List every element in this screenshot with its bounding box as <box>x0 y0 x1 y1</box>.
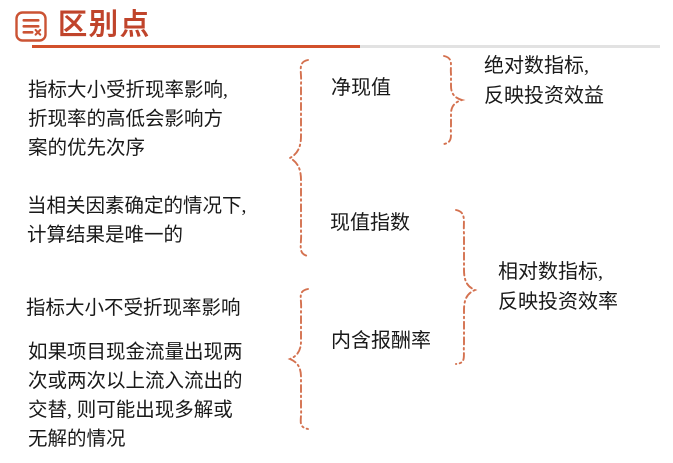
node-label-pvi: 现值指数 <box>330 209 410 238</box>
npv-description-primary: 指标大小受折现率影响, 折现率的高低会影响方 案的优先次序 <box>28 76 308 163</box>
brace-right-relative-group <box>452 208 480 366</box>
document-list-x-icon <box>15 11 47 42</box>
absolute-indicator-description: 绝对数指标, 反映投资效益 <box>484 51 664 111</box>
npv-description-secondary: 当相关因素确定的情况下, 计算结果是唯一的 <box>27 192 312 250</box>
header-divider-accent <box>32 45 360 48</box>
header-divider-rest <box>360 45 660 48</box>
brace-left-irr-group <box>288 287 314 431</box>
page-header: 区别点 <box>0 0 673 52</box>
node-label-npv: 净现值 <box>331 74 391 103</box>
irr-description-primary: 指标大小不受折现率影响 <box>26 294 306 323</box>
brace-right-absolute-group <box>440 54 466 146</box>
node-label-irr: 内含报酬率 <box>331 327 431 356</box>
brace-left-npv-group <box>288 58 314 258</box>
page-title: 区别点 <box>58 7 151 43</box>
relative-indicator-description: 相对数指标, 反映投资效率 <box>498 257 673 317</box>
irr-description-secondary: 如果项目现金流量出现两 次或两次以上流入流出的 交替, 则可能出现多解或 无解的… <box>28 338 303 454</box>
